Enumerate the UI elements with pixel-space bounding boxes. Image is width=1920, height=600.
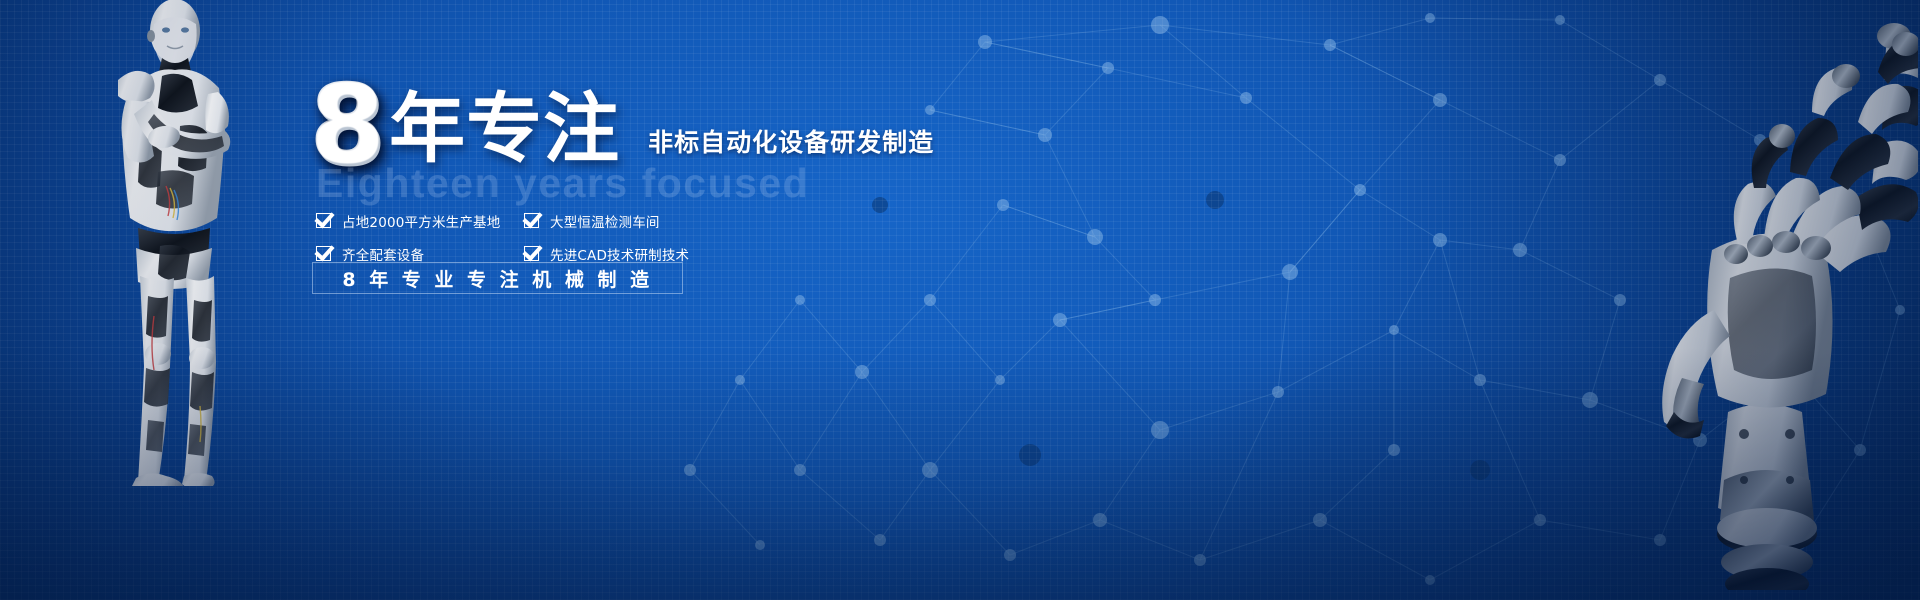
humanoid-robot-figure <box>62 0 262 486</box>
feature-item: 占地2000平方米生产基地 <box>316 205 524 236</box>
headline-subtitle: 非标自动化设备研发制造 <box>648 123 934 159</box>
ghost-english-text: Eighteen years focused <box>316 160 809 207</box>
hero-banner: 8 年专注 非标自动化设备研发制造 Eighteen years focused… <box>0 0 1920 600</box>
checkbox-checked-icon <box>316 246 331 261</box>
banner-content: 8 年专注 非标自动化设备研发制造 Eighteen years focused… <box>310 0 1030 600</box>
feature-label: 先进CAD技术研制技术 <box>550 244 689 264</box>
headline-row: 8 年专注 非标自动化设备研发制造 <box>310 78 934 173</box>
checkbox-checked-icon <box>524 246 539 261</box>
headline-suffix: 年专注 <box>389 91 620 167</box>
feature-label: 齐全配套设备 <box>342 244 424 264</box>
feature-label: 大型恒温检测车间 <box>550 211 660 231</box>
feature-item: 大型恒温检测车间 <box>524 205 736 236</box>
checkbox-checked-icon <box>524 213 539 228</box>
feature-list: 占地2000平方米生产基地 大型恒温检测车间 齐全配套设备 先进CAD技术研制技… <box>316 205 736 269</box>
slogan-frame: 8 年 专 业 专 注 机 械 制 造 <box>312 262 683 294</box>
headline-number: 8 <box>310 78 389 173</box>
feature-label: 占地2000平方米生产基地 <box>342 211 500 231</box>
checkbox-checked-icon <box>316 213 331 228</box>
robotic-hand-figure <box>1558 10 1918 590</box>
slogan-text: 8 年 专 业 专 注 机 械 制 造 <box>342 265 652 292</box>
